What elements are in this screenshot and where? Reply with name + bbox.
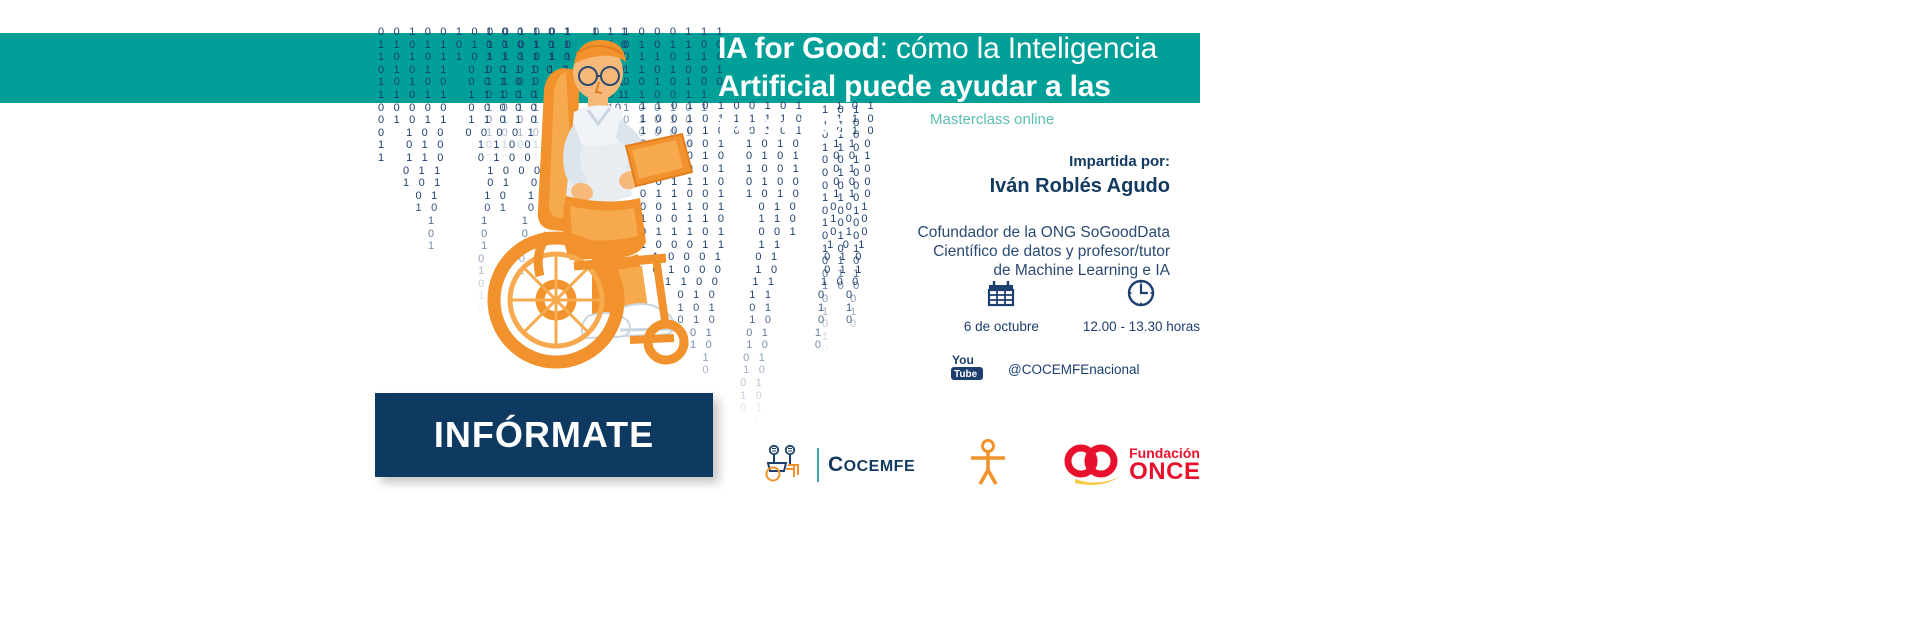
fundacion-once-logo[interactable]: Fundación ONCE [1061,441,1200,490]
masterclass-label: Masterclass online [820,110,1170,130]
cocemfe-logo[interactable]: COCEMFE [760,443,915,488]
cocemfe-wordmark: COCEMFE [828,453,915,477]
youtube-handle[interactable]: @COCEMFEnacional [1008,362,1140,377]
youtube-icon[interactable]: You Tube [950,352,990,387]
speaker-info-column: Masterclass online Impartida por: Iván R… [820,104,1170,280]
event-meta-row: 6 de octubre 12.00 - 13.30 horas [900,278,1200,334]
logo-divider [817,448,819,482]
event-time: 12.00 - 13.30 horas [1083,278,1200,334]
event-date-label: 6 de octubre [964,319,1039,334]
calendar-icon [986,278,1016,313]
youtube-channel-row[interactable]: You Tube @COCEMFEnacional [950,352,1140,387]
speaker-bio-line-1: Cofundador de la ONG SoGoodData [820,223,1170,242]
svg-text:You: You [952,353,974,367]
event-date: 6 de octubre [964,278,1039,334]
presented-by-label: Impartida por: [820,152,1170,172]
man-in-wheelchair-with-tablet-illustration [470,20,760,380]
speaker-bio: Cofundador de la ONG SoGoodData Científi… [820,223,1170,280]
headline-rest: : cómo la Inteligencia [880,32,1157,65]
once-wordmark: Fundación ONCE [1129,446,1200,484]
partner-logos: COCEMFE Fundación ONCE [760,430,1190,500]
informate-button-label: INFÓRMATE [434,414,654,456]
svg-text:Tube: Tube [954,369,978,380]
event-time-label: 12.00 - 13.30 horas [1083,319,1200,334]
clock-icon [1126,278,1156,313]
banner-ad-root: 0 0 1 0 0 1 0 0 0 1 0 0 1 0 1 1 1 0 1 1 … [0,0,1920,630]
headline-brand: IA for Good [718,32,880,65]
wheelchair-people-icon [760,443,808,488]
speaker-bio-line-2: Científico de datos y profesor/tutor [820,242,1170,261]
once-rings-icon [1061,441,1123,490]
speaker-name: Iván Roblés Agudo [820,173,1170,199]
informate-button[interactable]: INFÓRMATE [375,393,713,477]
accessibility-person-logo[interactable] [967,438,1009,493]
